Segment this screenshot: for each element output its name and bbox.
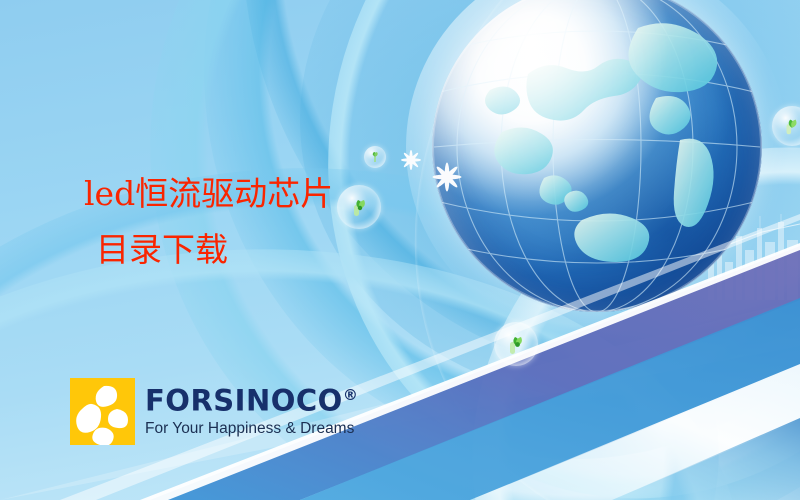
brand-name-text: FORSINOCO — [145, 384, 343, 418]
flower-burst-large — [428, 158, 466, 196]
eco-sprout-icon — [369, 151, 381, 163]
brand-tagline: For Your Happiness & Dreams — [145, 419, 358, 439]
headline: led恒流驱动芯片 目录下载 — [84, 166, 414, 278]
registered-mark: ® — [343, 386, 358, 404]
company-logo[interactable]: FORSINOCO® For Your Happiness & Dreams — [70, 378, 358, 445]
headline-line-2: 目录下载 — [84, 222, 414, 278]
brand-name: FORSINOCO® — [145, 380, 358, 416]
bubble-eco-bottom — [494, 322, 538, 366]
pinwheel-flower-icon — [70, 378, 135, 445]
headline-line-1: led恒流驱动芯片 — [84, 166, 414, 222]
logo-text: FORSINOCO® For Your Happiness & Dreams — [145, 378, 358, 439]
bubble-eco-top — [364, 146, 386, 168]
logo-mark — [70, 378, 135, 445]
eco-sprout-icon — [504, 332, 528, 356]
banner-canvas: led恒流驱动芯片 目录下载 FORSINOCO® For Your Happi… — [0, 0, 800, 500]
eco-sprout-icon — [781, 115, 800, 137]
